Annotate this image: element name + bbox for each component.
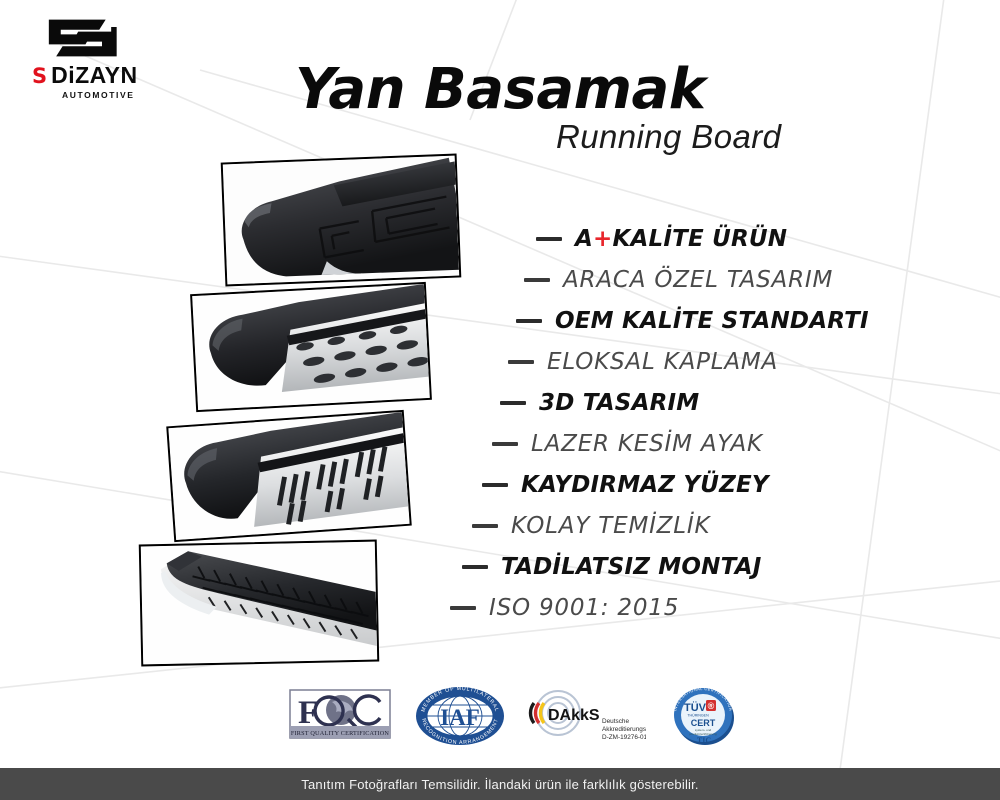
feature-label: ARACA ÖZEL TASARIM	[563, 267, 833, 293]
iaf-label: IAF	[440, 705, 480, 730]
feature-item: KAYDIRMAZ YÜZEY	[440, 464, 910, 505]
feature-label: LAZER KESİM AYAK	[531, 431, 763, 457]
footer-disclaimer: Tanıtım Fotoğrafları Temsilidir. İlandak…	[301, 777, 699, 792]
feature-item: LAZER KESİM AYAK	[440, 423, 910, 464]
product-photo-2	[190, 282, 432, 412]
feature-label: ISO 9001: 2015	[489, 595, 679, 621]
tuv-cert-logo: TÜV ® THÜRINGEN CERT system- und produkt…	[668, 685, 740, 747]
fqc-caption: FIRST QUALITY CERTIFICATION	[291, 730, 390, 737]
bullet-dash-icon	[472, 524, 498, 528]
tuv-sub: THÜRINGEN	[687, 714, 709, 718]
s-monogram-icon	[34, 16, 126, 60]
svg-text:Akkreditierungsstelle: Akkreditierungsstelle	[602, 726, 646, 733]
logo-s-letter: S	[32, 64, 46, 88]
tuv-cert-label: CERT	[691, 718, 716, 728]
poster-canvas: S DiZAYN AUTOMOTIVE Yan Basamak Running …	[0, 0, 1000, 800]
bullet-dash-icon	[508, 360, 534, 364]
dakks-logo: DAkkS Deutsche Akkreditierungsstelle D-Z…	[528, 685, 646, 747]
feature-label: KAYDIRMAZ YÜZEY	[521, 472, 769, 498]
feature-item: OEM KALİTE STANDARTI	[440, 300, 910, 341]
product-photo-1	[221, 154, 462, 287]
feature-label: OEM KALİTE STANDARTI	[555, 308, 869, 334]
feature-item: ARACA ÖZEL TASARIM	[440, 259, 910, 300]
iaf-logo: IAF MEMBER OF MULTILATERAL RECOGNITION A…	[414, 685, 506, 747]
feature-label: TADİLATSIZ MONTAJ	[501, 554, 761, 580]
feature-item: KOLAY TEMİZLİK	[440, 505, 910, 546]
product-photo-3	[166, 410, 412, 542]
feature-item: 3D TASARIM	[440, 382, 910, 423]
svg-text:Deutsche: Deutsche	[602, 718, 629, 725]
logo-brand-name: DiZAYN	[51, 62, 138, 89]
bullet-dash-icon	[500, 401, 526, 405]
product-photo-4	[139, 540, 380, 667]
bullet-dash-icon	[450, 606, 476, 610]
tuv-bottom-label: TIC	[697, 736, 711, 745]
certification-logos: F Q FIRST QUALITY CERTIFICATION	[288, 682, 718, 750]
svg-text:®: ®	[708, 701, 715, 711]
tuv-label: TÜV	[684, 701, 707, 714]
feature-label: ELOKSAL KAPLAMA	[547, 349, 778, 375]
page-subtitle: Running Board	[556, 118, 781, 156]
feature-list: A+KALİTE ÜRÜN ARACA ÖZEL TASARIM OEM KAL…	[440, 218, 910, 628]
brand-logo: S DiZAYN AUTOMOTIVE	[24, 16, 174, 100]
feature-item: ELOKSAL KAPLAMA	[440, 341, 910, 382]
feature-item: ISO 9001: 2015	[440, 587, 910, 628]
footer-bar: Tanıtım Fotoğrafları Temsilidir. İlandak…	[0, 768, 1000, 800]
bullet-dash-icon	[516, 319, 542, 323]
bullet-dash-icon	[536, 237, 562, 241]
bullet-dash-icon	[482, 483, 508, 487]
fqc-logo: F Q FIRST QUALITY CERTIFICATION	[288, 685, 392, 747]
logo-tagline: AUTOMOTIVE	[62, 90, 174, 100]
feature-label: A+KALİTE ÜRÜN	[575, 226, 787, 252]
bullet-dash-icon	[462, 565, 488, 569]
bullet-dash-icon	[492, 442, 518, 446]
feature-label: 3D TASARIM	[539, 390, 699, 416]
bullet-dash-icon	[524, 278, 550, 282]
feature-label: KOLAY TEMİZLİK	[511, 513, 710, 539]
dakks-label: DAkkS	[548, 707, 600, 724]
svg-text:D-ZM-19276-01-00: D-ZM-19276-01-00	[602, 734, 646, 741]
page-title: Yan Basamak	[295, 57, 706, 122]
feature-item: TADİLATSIZ MONTAJ	[440, 546, 910, 587]
feature-item: A+KALİTE ÜRÜN	[440, 218, 910, 259]
